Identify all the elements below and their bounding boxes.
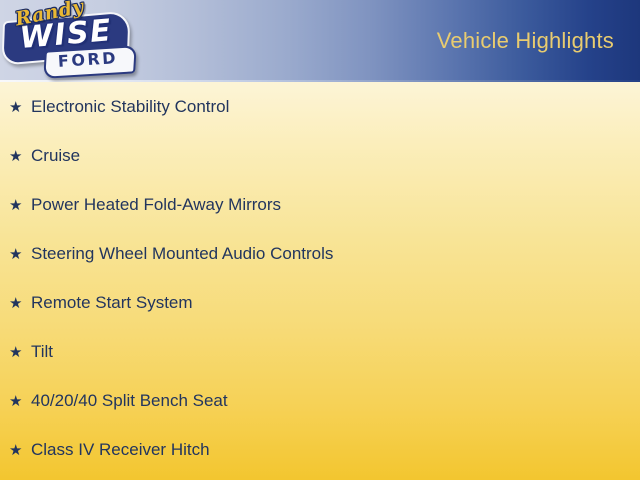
list-item: ★ Power Heated Fold-Away Mirrors: [0, 194, 640, 243]
list-item-label: Class IV Receiver Hitch: [31, 439, 640, 461]
list-item: ★ Electronic Stability Control: [0, 96, 640, 145]
list-item-label: Power Heated Fold-Away Mirrors: [31, 194, 640, 216]
list-item-label: Cruise: [31, 145, 640, 167]
list-item-label: Electronic Stability Control: [31, 96, 640, 118]
star-icon: ★: [9, 342, 31, 364]
dealer-logo[interactable]: Randy WISE FORD: [0, 0, 136, 82]
vehicle-highlights-page: Randy WISE FORD Vehicle Highlights ★ Ele…: [0, 0, 640, 480]
list-item: ★ Steering Wheel Mounted Audio Controls: [0, 243, 640, 292]
list-item: ★ 40/20/40 Split Bench Seat: [0, 390, 640, 439]
list-item-label: 40/20/40 Split Bench Seat: [31, 390, 640, 412]
list-item-label: Steering Wheel Mounted Audio Controls: [31, 243, 640, 265]
page-header: Randy WISE FORD Vehicle Highlights: [0, 0, 640, 82]
star-icon: ★: [9, 293, 31, 315]
star-icon: ★: [9, 391, 31, 413]
star-icon: ★: [9, 97, 31, 119]
vehicle-highlights-list: ★ Electronic Stability Control ★ Cruise …: [0, 82, 640, 480]
star-icon: ★: [9, 440, 31, 462]
list-item: ★ Class IV Receiver Hitch: [0, 439, 640, 480]
list-item: ★ Tilt: [0, 341, 640, 390]
star-icon: ★: [9, 244, 31, 266]
star-icon: ★: [9, 146, 31, 168]
page-title: Vehicle Highlights: [437, 28, 614, 54]
list-item: ★ Cruise: [0, 145, 640, 194]
star-icon: ★: [9, 195, 31, 217]
list-item-label: Tilt: [31, 341, 640, 363]
list-item: ★ Remote Start System: [0, 292, 640, 341]
list-item-label: Remote Start System: [31, 292, 640, 314]
